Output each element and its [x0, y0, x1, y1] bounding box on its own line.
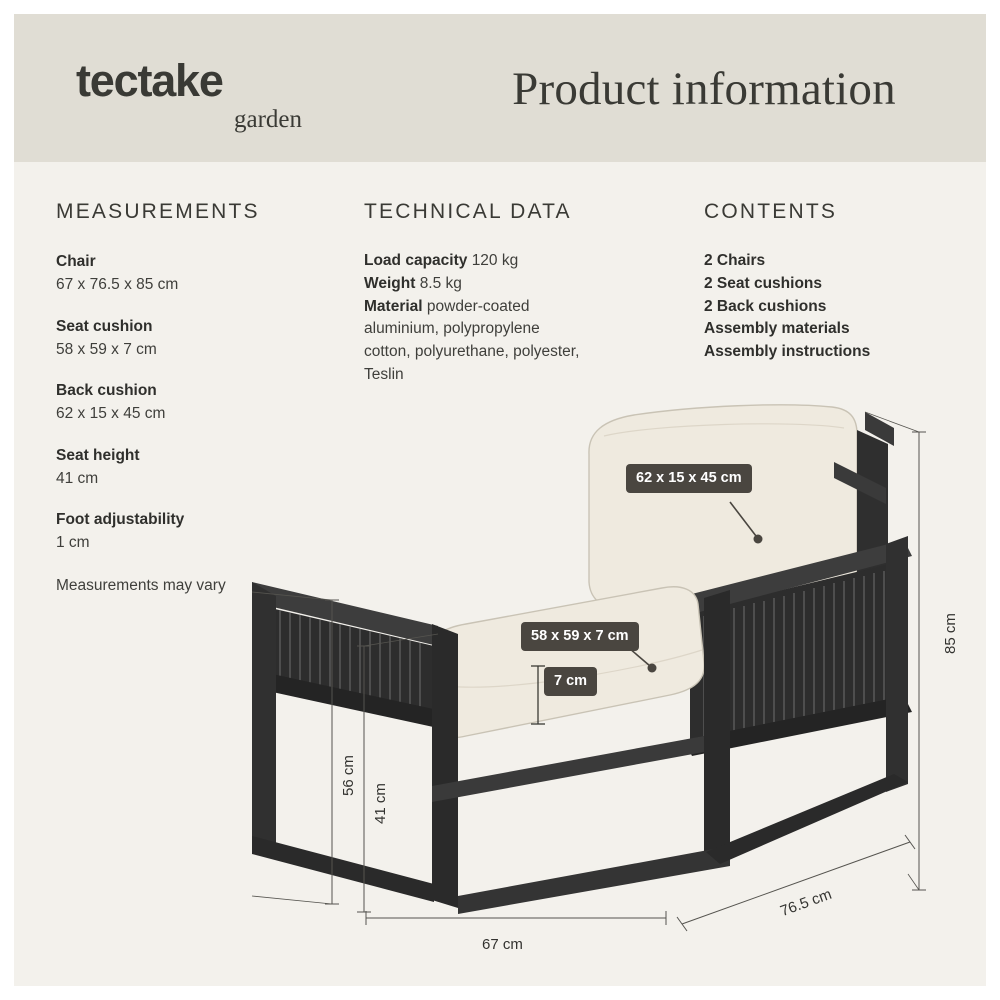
- technical-weight-label: Weight: [364, 275, 415, 292]
- product-information-page: tectake garden Product information MEASU…: [14, 14, 986, 986]
- dimension-label-56: 56 cm: [340, 755, 357, 796]
- runner-right: [706, 774, 908, 864]
- contents-item: 2 Seat cushions: [704, 273, 984, 296]
- contents-item: Assembly instructions: [704, 341, 984, 364]
- leg-front-left: [252, 582, 276, 854]
- technical-material: Material powder-coated: [364, 296, 664, 319]
- cross-brace: [432, 736, 704, 802]
- leg-front-center: [432, 624, 458, 908]
- seat-cushion: [430, 587, 704, 738]
- brand-name: tectake: [76, 58, 306, 103]
- technical-material-line3: cotton, polyurethane, polyester,: [364, 341, 664, 364]
- product-illustration: 62 x 15 x 45 cm 58 x 59 x 7 cm 7 cm 85 c…: [14, 384, 986, 986]
- technical-material-line2: aluminium, polypropylene: [364, 318, 664, 341]
- measurements-heading: MEASUREMENTS: [56, 200, 356, 224]
- contents-column: CONTENTS 2 Chairs 2 Seat cushions 2 Back…: [704, 200, 984, 364]
- chair-diagram-svg: [14, 384, 986, 986]
- callout-seat-cushion: 58 x 59 x 7 cm: [521, 622, 639, 651]
- callout-back-cushion: 62 x 15 x 45 cm: [626, 464, 752, 493]
- contents-item: Assembly materials: [704, 318, 984, 341]
- runner-left: [252, 836, 434, 902]
- technical-weight-value: 8.5 kg: [420, 275, 462, 292]
- callout-cushion-thickness: 7 cm: [544, 667, 597, 696]
- technical-load-value: 120 kg: [472, 252, 519, 269]
- technical-load-capacity: Load capacity 120 kg: [364, 250, 664, 273]
- dimension-label-41: 41 cm: [372, 783, 389, 824]
- measurement-item-chair: Chair 67 x 76.5 x 85 cm: [56, 250, 356, 297]
- technical-heading: TECHNICAL DATA: [364, 200, 664, 224]
- measurement-label: Seat cushion: [56, 315, 356, 338]
- measurement-label: Chair: [56, 250, 356, 273]
- brand-logo: tectake garden: [76, 58, 306, 132]
- measurement-value: 58 x 59 x 7 cm: [56, 338, 356, 361]
- dimension-label-height: 85 cm: [942, 613, 959, 654]
- measurement-value: 67 x 76.5 x 85 cm: [56, 273, 356, 296]
- technical-material-label: Material: [364, 298, 423, 315]
- contents-item: 2 Chairs: [704, 250, 984, 273]
- dimension-label-width: 67 cm: [482, 936, 523, 953]
- technical-material-value: powder-coated: [427, 298, 530, 315]
- contents-item: 2 Back cushions: [704, 296, 984, 319]
- brand-sub: garden: [76, 107, 306, 132]
- page-title: Product information: [434, 62, 974, 116]
- leader-dot-seat-cushion: [648, 664, 657, 673]
- leg-front-right: [704, 590, 730, 868]
- page-header: tectake garden Product information: [14, 14, 986, 162]
- leader-dot-back-cushion: [754, 535, 763, 544]
- technical-weight: Weight 8.5 kg: [364, 273, 664, 296]
- technical-load-label: Load capacity: [364, 252, 467, 269]
- measurement-item-seat-cushion: Seat cushion 58 x 59 x 7 cm: [56, 315, 356, 362]
- leg-rear-right: [886, 536, 908, 792]
- runner-front: [458, 846, 730, 914]
- technical-data-column: TECHNICAL DATA Load capacity 120 kg Weig…: [364, 200, 664, 387]
- contents-heading: CONTENTS: [704, 200, 984, 224]
